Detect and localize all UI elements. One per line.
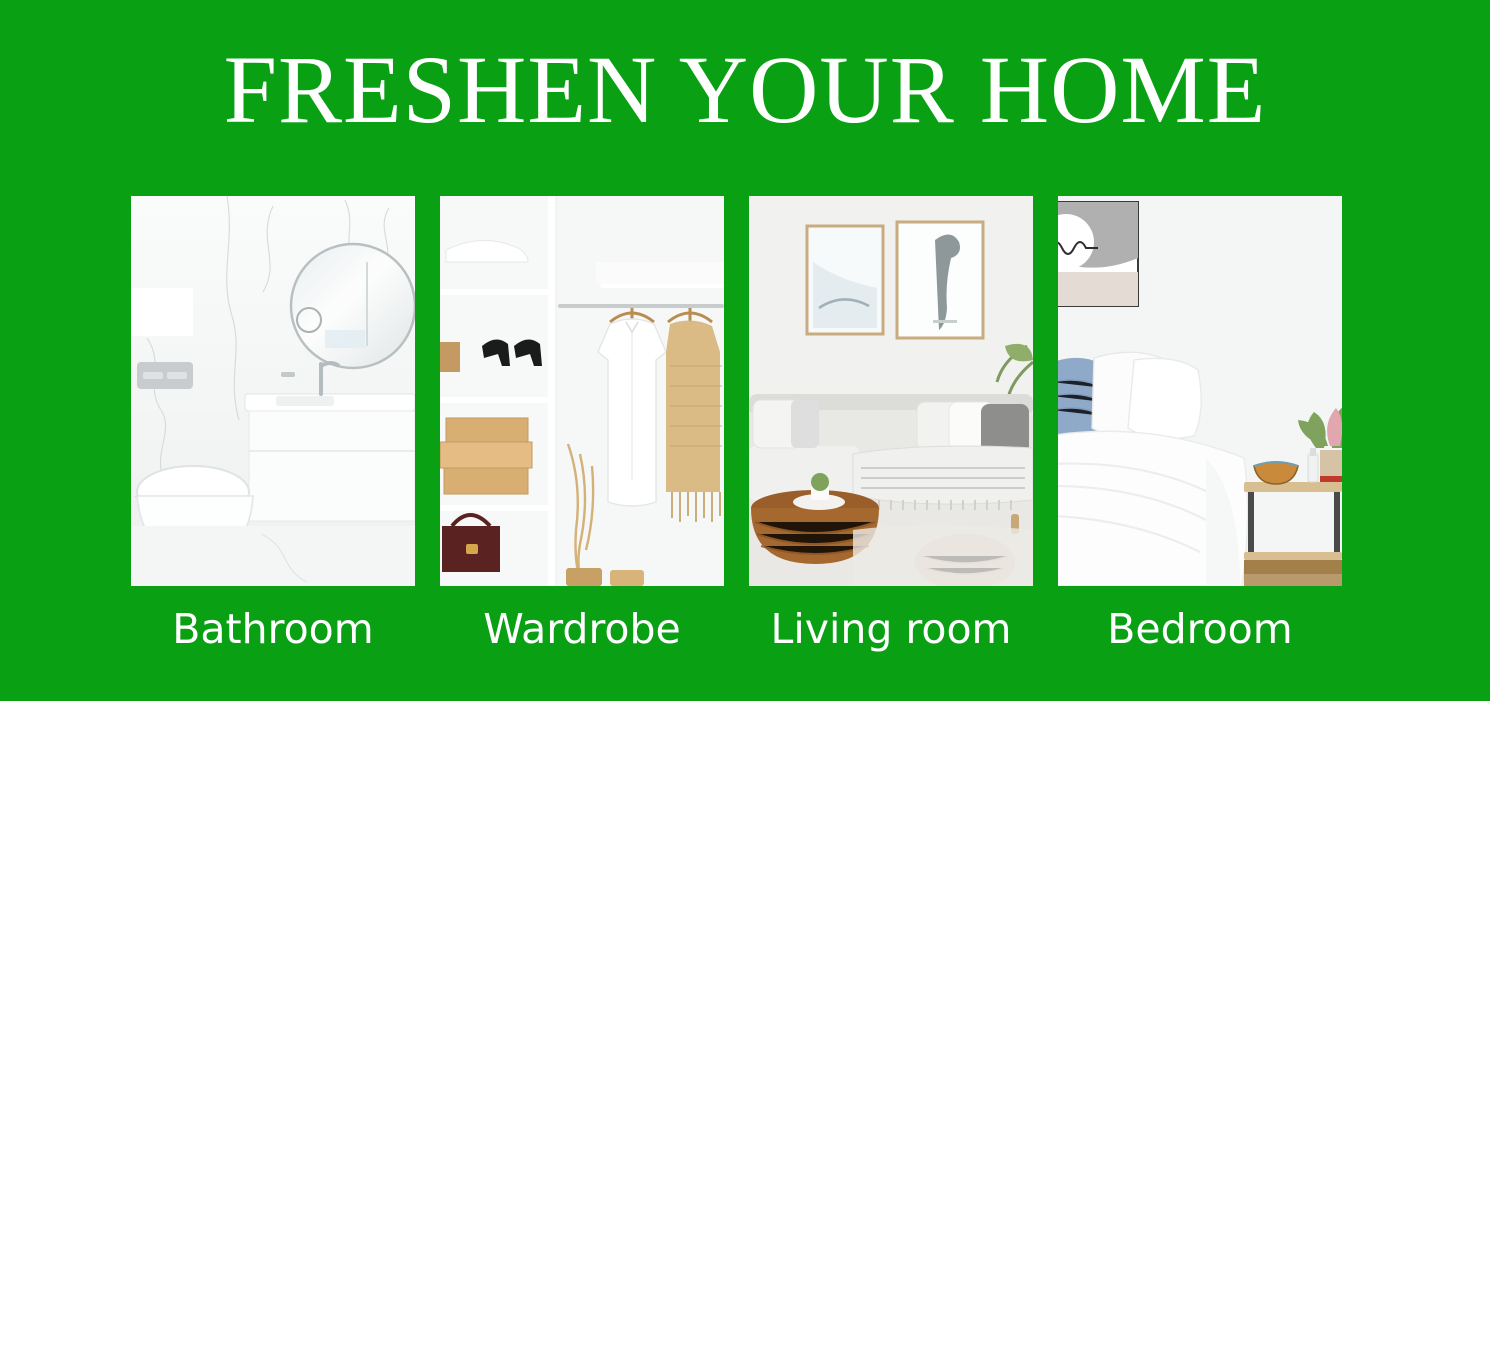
bedroom-photo — [1058, 196, 1342, 586]
bathroom-photo — [131, 196, 415, 586]
room-tile-bedroom[interactable] — [1058, 196, 1342, 586]
room-tile-living-room[interactable] — [749, 196, 1033, 586]
room-tile-bathroom[interactable] — [131, 196, 415, 586]
product-infographic: FRESHEN YOUR HOME — [0, 0, 1500, 1362]
room-label-wardrobe: Wardrobe — [440, 600, 724, 662]
room-label-bathroom: Bathroom — [131, 600, 415, 662]
room-label-living-room: Living room — [749, 600, 1033, 662]
wardrobe-photo — [440, 196, 724, 586]
specification-panel: 8.42 cm — [0, 701, 1500, 1362]
living-room-photo — [749, 196, 1033, 586]
page-title: FRESHEN YOUR HOME — [0, 42, 1490, 138]
hero-panel: FRESHEN YOUR HOME — [0, 0, 1490, 701]
room-tile-wardrobe[interactable] — [440, 196, 724, 586]
room-labels: Bathroom Wardrobe Living room Bedroom — [131, 600, 1363, 662]
room-tiles — [131, 196, 1363, 586]
room-label-bedroom: Bedroom — [1058, 600, 1342, 662]
